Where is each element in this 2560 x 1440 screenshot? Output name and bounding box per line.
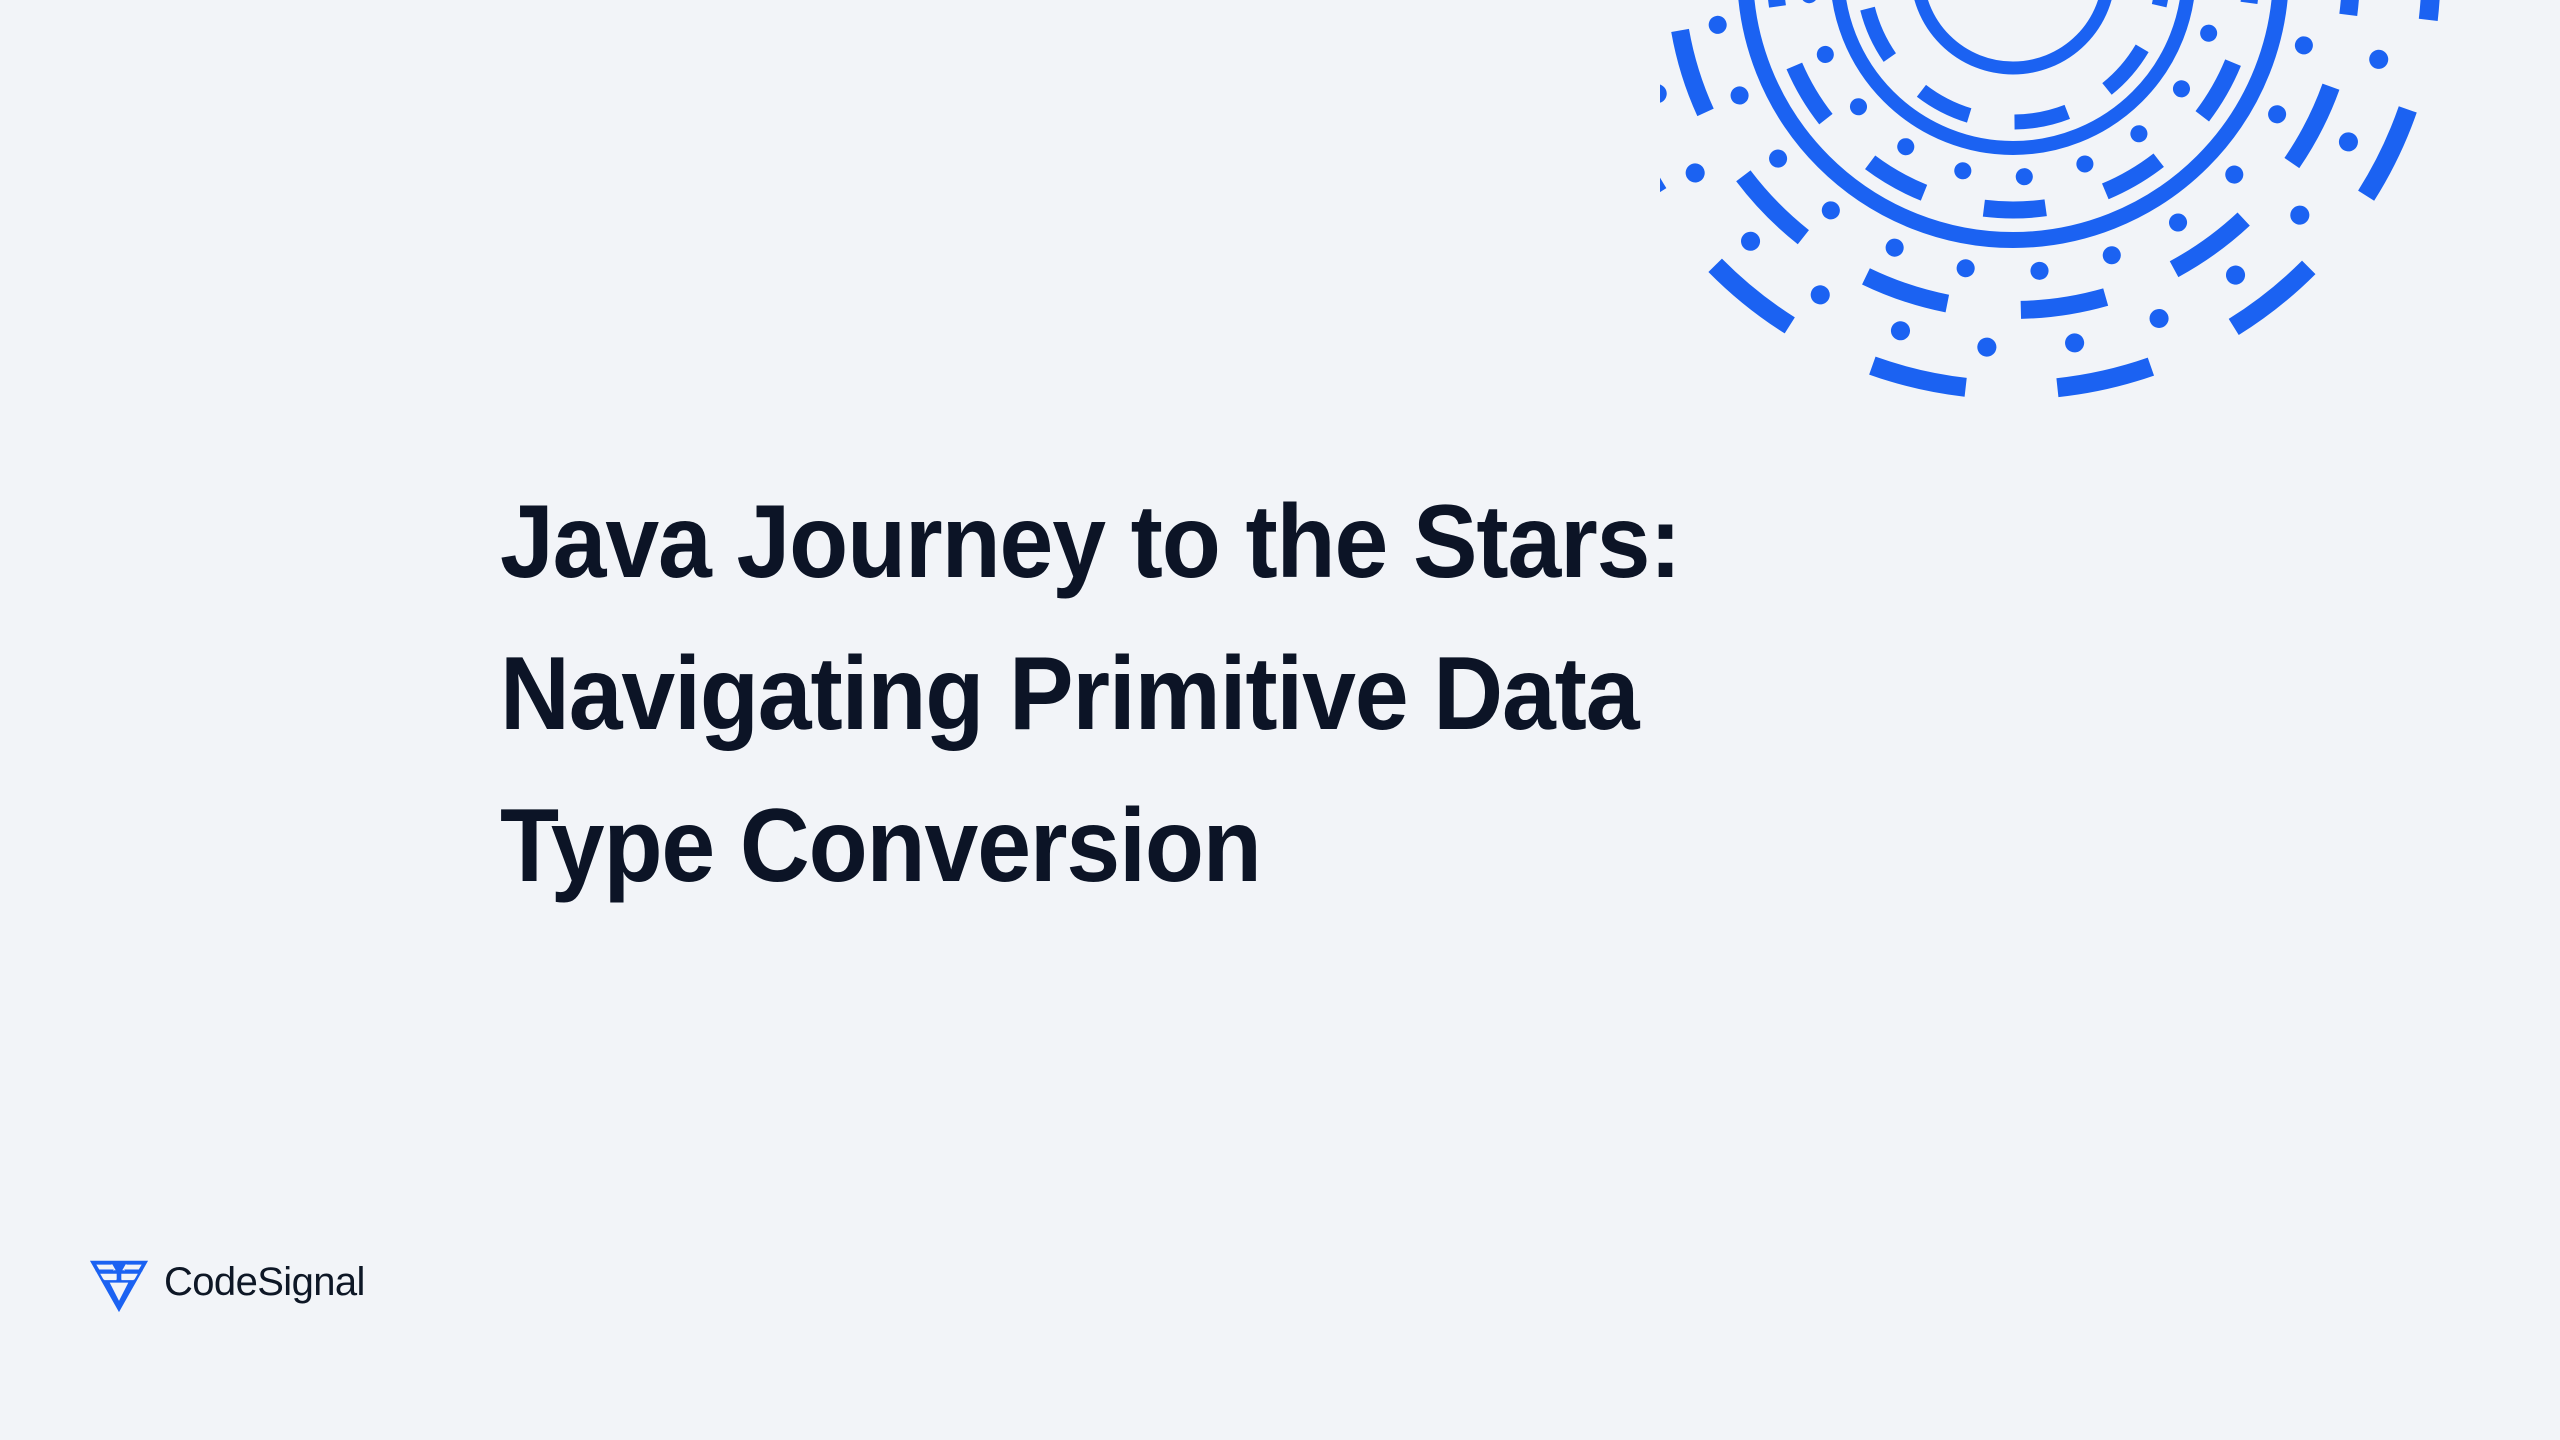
ring-dash-1 <box>1863 0 2163 122</box>
ring-solid-inner <box>1917 0 2109 68</box>
ring-dash-4 <box>1660 0 2431 390</box>
concentric-arcs-decoration <box>1660 0 2560 520</box>
page-title: Java Journey to the Stars: Navigating Pr… <box>500 466 2000 922</box>
ring-dot-2 <box>1713 0 2313 272</box>
title-line-2: Navigating Primitive Data <box>500 618 1895 770</box>
ring-dot-1 <box>1808 0 2218 177</box>
ring-solid-2 <box>1837 0 2189 148</box>
concentric-arcs-svg <box>1660 0 2560 520</box>
codesignal-falcon-mark-icon <box>88 1252 150 1314</box>
title-line-1: Java Journey to the Stars: <box>500 466 1895 618</box>
codesignal-wordmark-text: CodeSignal <box>164 1260 365 1304</box>
ring-dash-3 <box>1675 0 2351 310</box>
title-line-3: Type Conversion <box>500 770 1895 922</box>
codesignal-logo: CodeSignal <box>88 1252 434 1314</box>
codesignal-wordmark: CodeSignal <box>164 1260 434 1306</box>
title-slide: Java Journey to the Stars: Navigating Pr… <box>0 0 2560 1440</box>
arc-ring-group <box>1660 0 2431 390</box>
ring-solid-3 <box>1745 0 2281 240</box>
ring-dot-3 <box>1660 0 2389 348</box>
ring-dash-2 <box>1775 0 2251 210</box>
